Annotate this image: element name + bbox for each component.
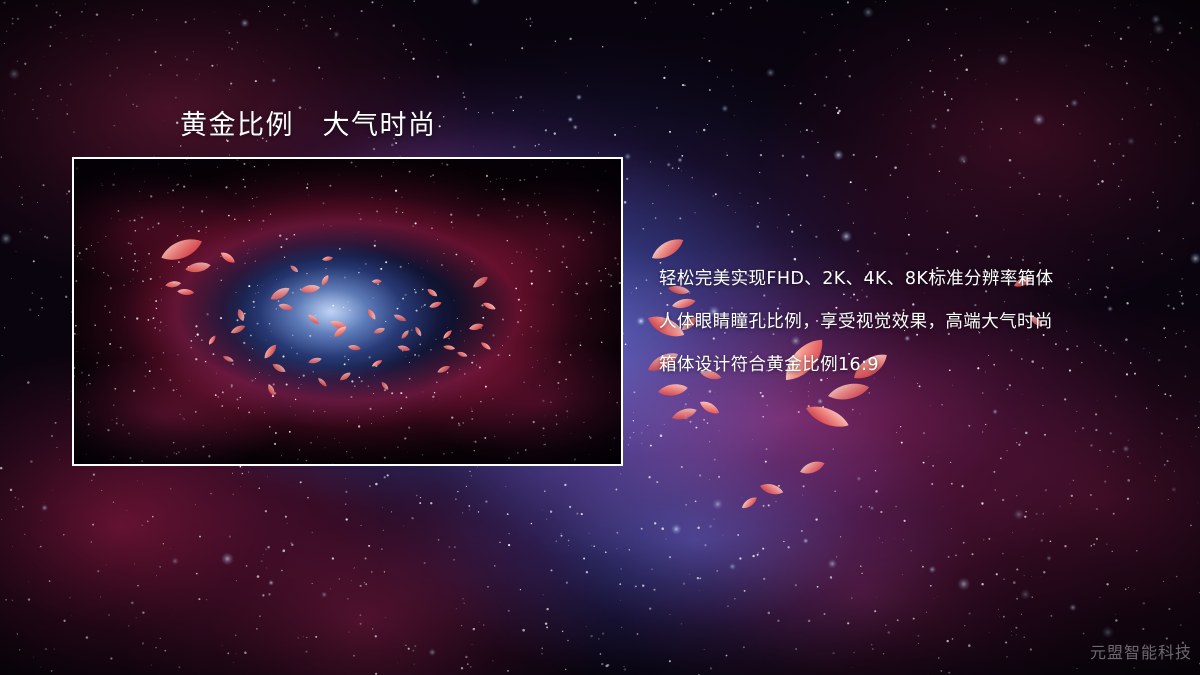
page-title: 黄金比例 大气时尚 [180, 103, 437, 142]
watermark-label: 元盟智能科技 [1090, 639, 1192, 663]
framed-nebula-image [72, 157, 623, 466]
framed-image-content [74, 159, 621, 464]
body-line-3: 箱体设计符合黄金比例16:9 [659, 344, 1159, 387]
presentation-slide: 黄金比例 大气时尚 轻松完美实现FHD、2K、4K、8K标准分辨率箱体 人体眼睛… [0, 0, 1200, 675]
body-line-1: 轻松完美实现FHD、2K、4K、8K标准分辨率箱体 [659, 258, 1159, 301]
framed-image-vignette [74, 159, 621, 464]
body-line-2: 人体眼睛瞳孔比例，享受视觉效果，高端大气时尚 [659, 301, 1159, 344]
body-text-block: 轻松完美实现FHD、2K、4K、8K标准分辨率箱体 人体眼睛瞳孔比例，享受视觉效… [659, 258, 1159, 387]
